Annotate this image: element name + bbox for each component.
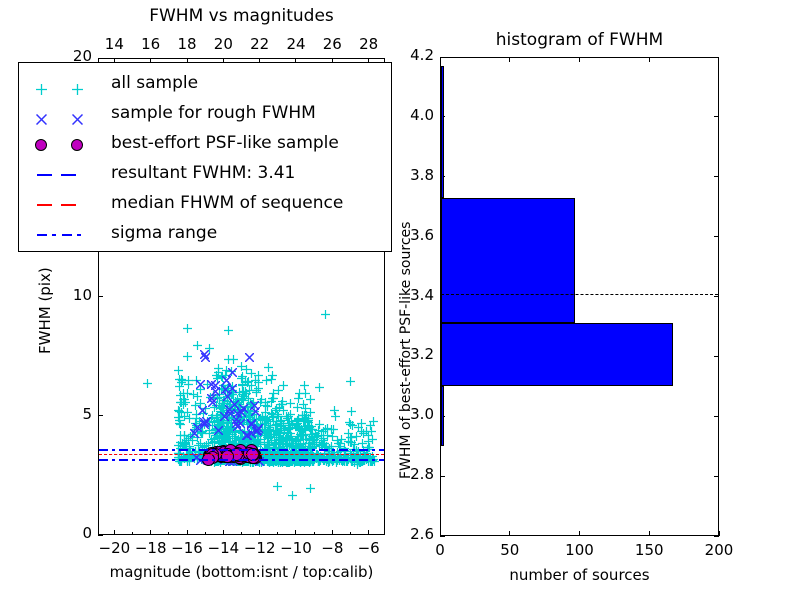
rough-sample-point <box>253 420 262 429</box>
legend-item[interactable]: sigma range <box>19 219 391 252</box>
histogram-bar <box>441 323 673 386</box>
hist-x-tick <box>649 531 650 536</box>
all-sample-point <box>319 428 328 437</box>
all-sample-point <box>267 369 276 378</box>
legend-item[interactable]: resultant FWHM: 3.41 <box>19 159 391 192</box>
all-sample-point <box>306 478 315 487</box>
all-sample-point <box>176 414 185 423</box>
hist-x-tick <box>579 531 580 536</box>
legend-item[interactable]: all sample <box>19 69 391 102</box>
hist-y-tick-label: 4.0 <box>388 106 434 124</box>
circle-marker <box>71 139 83 151</box>
rough-sample-point <box>200 414 209 423</box>
scatter-y-axis-label: FWHM (pix) <box>36 267 54 354</box>
dashed-line <box>37 204 85 206</box>
legend-item-label: best-effort PSF-like sample <box>111 133 339 153</box>
plus-marker <box>36 80 47 91</box>
histogram-title: histogram of FWHM <box>400 30 759 50</box>
all-sample-point <box>367 421 376 430</box>
all-sample-point <box>273 476 282 485</box>
hist-y-tick <box>440 476 445 477</box>
histogram-bar <box>441 198 575 324</box>
all-sample-point <box>298 405 307 414</box>
legend-item-label: all sample <box>111 73 198 93</box>
legend-item[interactable]: best-effort PSF-like sample <box>19 129 391 162</box>
legend-box: all samplesample for rough FWHMbest-effo… <box>18 62 392 252</box>
hist-y-tick-label: 3.8 <box>388 166 434 184</box>
histogram-bar <box>441 66 444 198</box>
legend-item[interactable]: sample for rough FWHM <box>19 99 391 132</box>
hist-y-tick-right <box>714 476 719 477</box>
rough-sample-point <box>201 347 210 356</box>
hist-y-tick-label: 2.6 <box>388 525 434 543</box>
all-sample-point <box>330 400 339 409</box>
hist-y-tick-right <box>714 416 719 417</box>
rough-sample-point <box>237 402 246 411</box>
all-sample-point <box>357 421 366 430</box>
rough-sample-point <box>211 375 220 384</box>
hist-y-tick-right <box>714 176 719 177</box>
x-tick-label-top: 24 <box>276 35 316 53</box>
rough-sample-point <box>198 400 207 409</box>
y-tick-label-left: 10 <box>52 286 92 304</box>
rough-sample-point <box>245 347 254 356</box>
scatter-hline-median-fwhm <box>99 454 384 455</box>
scatter-plot-title: FWHM vs magnitudes <box>18 6 465 26</box>
cross-marker <box>36 110 47 121</box>
x-tick-label-top: 28 <box>349 35 389 53</box>
all-sample-point <box>346 371 355 380</box>
all-sample-point <box>143 373 152 382</box>
all-sample-point <box>237 368 246 377</box>
hist-y-tick-right <box>714 236 719 237</box>
all-sample-point <box>183 346 192 355</box>
hist-x-tick-top <box>579 57 580 62</box>
all-sample-point <box>288 485 297 494</box>
histogram-y-axis-label: FWHM of best-effort PSF-like sources <box>398 221 414 478</box>
rough-sample-point <box>251 401 260 410</box>
hist-x-tick-label: 100 <box>555 541 605 559</box>
all-sample-point <box>327 419 336 428</box>
x-tick-label-top: 18 <box>167 35 207 53</box>
x-tick-label-top: 26 <box>312 35 352 53</box>
y-tick-label-left: 5 <box>52 405 92 423</box>
x-tick-label-top: 20 <box>203 35 243 53</box>
hist-x-tick-label: 150 <box>624 541 674 559</box>
all-sample-point <box>347 401 356 410</box>
all-sample-point <box>252 380 261 389</box>
legend-item-label: sample for rough FWHM <box>111 103 316 123</box>
all-sample-point <box>214 362 223 371</box>
rough-sample-point <box>214 420 223 429</box>
hist-y-tick-right <box>714 356 719 357</box>
hist-x-tick-label: 200 <box>694 541 744 559</box>
all-sample-point <box>344 431 353 440</box>
histogram-bar <box>441 386 444 446</box>
all-sample-point <box>261 395 270 404</box>
legend-item-label: resultant FWHM: 3.41 <box>111 163 295 183</box>
rough-sample-point <box>233 416 242 425</box>
legend-item[interactable]: median FHWM of sequence <box>19 189 391 222</box>
hist-x-tick-top <box>509 57 510 62</box>
all-sample-point <box>306 389 315 398</box>
all-sample-point <box>298 425 307 434</box>
hist-x-tick-top <box>649 57 650 62</box>
x-tick-label-bottom: −6 <box>347 539 391 557</box>
circle-marker <box>35 139 47 151</box>
hist-x-tick-label: 0 <box>415 541 465 559</box>
all-sample-point <box>279 375 288 384</box>
histogram-hline-resultant-fwhm <box>441 294 718 295</box>
scatter-hline-sigma-upper <box>99 449 384 451</box>
all-sample-point <box>315 377 324 386</box>
scatter-hline-sigma-lower <box>99 459 384 461</box>
scatter-x-axis-label: magnitude (bottom:isnt / top:calib) <box>38 563 445 581</box>
rough-sample-point <box>196 374 205 383</box>
all-sample-point <box>363 439 372 448</box>
all-sample-point <box>224 320 233 329</box>
all-sample-point <box>281 429 290 438</box>
legend-item-label: median FHWM of sequence <box>111 193 343 213</box>
histogram-x-axis-label: number of sources <box>400 566 759 584</box>
y-tick-left <box>98 58 103 59</box>
all-sample-point <box>229 349 238 358</box>
x-tick-label-top: 22 <box>240 35 280 53</box>
y-tick-label-left: 0 <box>52 524 92 542</box>
dashed-line <box>37 174 85 176</box>
rough-sample-point <box>228 378 237 387</box>
hist-y-tick-right <box>714 296 719 297</box>
hist-y-tick-right <box>714 536 719 537</box>
all-sample-point <box>179 389 188 398</box>
figure-canvas: FWHM vs magnitudes−20−18−16−14−12−10−8−6… <box>0 0 800 600</box>
all-sample-point <box>321 304 330 313</box>
plus-marker <box>72 80 83 91</box>
hist-y-tick <box>440 57 445 58</box>
hist-x-tick <box>509 531 510 536</box>
y-tick-left <box>98 535 103 536</box>
rough-sample-point <box>208 392 217 401</box>
all-sample-point <box>183 318 192 327</box>
hist-y-tick-right <box>714 116 719 117</box>
cross-marker <box>72 110 83 121</box>
dashdot-line <box>37 234 85 236</box>
all-sample-point <box>174 360 183 369</box>
all-sample-point <box>238 388 247 397</box>
x-tick-label-top: 14 <box>94 35 134 53</box>
all-sample-point <box>175 376 184 385</box>
all-sample-point <box>276 411 285 420</box>
hist-y-tick <box>440 536 445 537</box>
hist-y-tick-label: 4.2 <box>388 46 434 64</box>
hist-y-tick-right <box>714 57 719 58</box>
all-sample-point <box>193 335 202 344</box>
legend-item-label: sigma range <box>111 223 217 243</box>
hist-x-tick-label: 50 <box>485 541 535 559</box>
x-tick-label-top: 16 <box>131 35 171 53</box>
